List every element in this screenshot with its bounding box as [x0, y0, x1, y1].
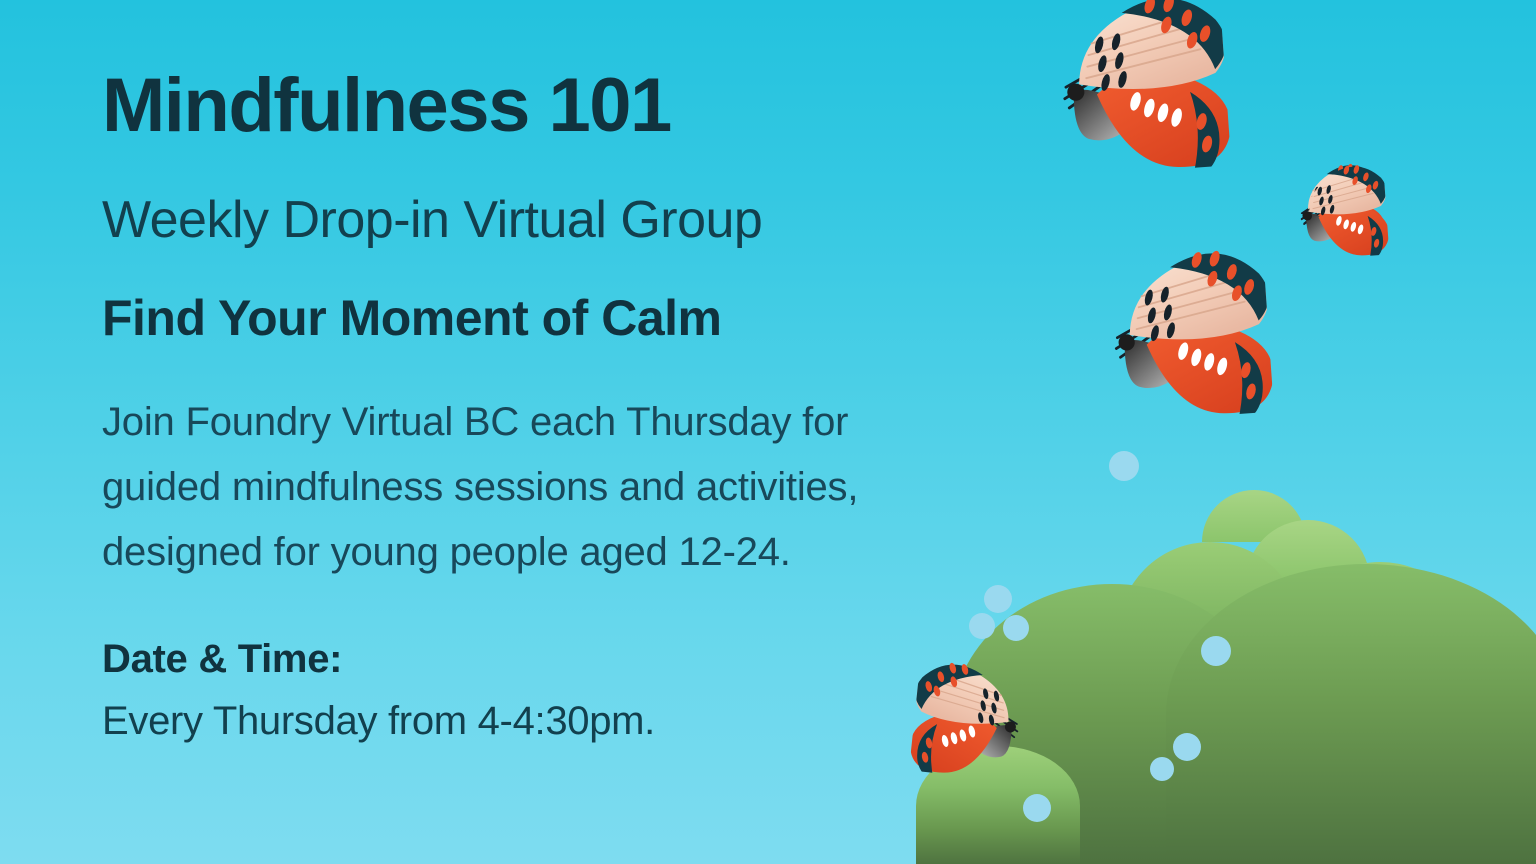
- butterfly-icon: [1082, 232, 1274, 424]
- foliage-dot: [1173, 733, 1201, 761]
- datetime-block: Date & Time: Every Thursday from 4-4:30p…: [102, 628, 1062, 752]
- page-title: Mindfulness 101: [102, 66, 1062, 146]
- description-line: guided mindfulness sessions and activiti…: [102, 455, 1062, 520]
- foliage-dot: [1150, 757, 1174, 781]
- poster-canvas: Mindfulness 101 Weekly Drop-in Virtual G…: [0, 0, 1536, 864]
- butterfly-lower-wing-tip: [1186, 90, 1222, 178]
- butterfly-lower-wing-dashes: [1127, 88, 1185, 132]
- poster-text-block: Mindfulness 101 Weekly Drop-in Virtual G…: [102, 66, 1062, 752]
- foliage-dome-upper-right: [1246, 520, 1370, 582]
- butterfly-body: [1073, 85, 1144, 142]
- butterfly-antennae: [1063, 63, 1113, 108]
- butterfly-head: [1067, 83, 1085, 101]
- datetime-value: Every Thursday from 4-4:30pm.: [102, 690, 1062, 752]
- foliage-dome-top: [1202, 490, 1306, 542]
- butterfly-wing-spots: [1092, 32, 1129, 93]
- butterfly-lower-tip-dashes: [1194, 111, 1215, 154]
- foliage-mass-right: [1166, 564, 1536, 864]
- butterfly-lower-wing: [1096, 65, 1232, 172]
- subtitle-program-type: Weekly Drop-in Virtual Group: [102, 192, 1062, 249]
- description-line: Join Foundry Virtual BC each Thursday fo…: [102, 390, 1062, 455]
- foliage-dome-center-right: [1286, 562, 1474, 656]
- foliage-skirt-bottom-left: [916, 746, 1080, 864]
- foliage-dot: [1023, 794, 1051, 822]
- description-line: designed for young people aged 12-24.: [102, 520, 1062, 585]
- foliage-dot: [1109, 451, 1139, 481]
- butterfly-upper-wing-tip: [1121, 0, 1228, 75]
- butterfly-icon: [1283, 155, 1390, 262]
- subtitle-tagline: Find Your Moment of Calm: [102, 291, 1062, 346]
- butterfly-wing-hatching: [1083, 17, 1202, 78]
- foliage-dome-far-right: [1434, 644, 1526, 690]
- foliage-dot: [1201, 636, 1231, 666]
- description-paragraph: Join Foundry Virtual BC each Thursday fo…: [102, 390, 1062, 584]
- datetime-label: Date & Time:: [102, 628, 1062, 690]
- butterfly-upper-wing: [1074, 0, 1228, 93]
- foliage-dome-center-left: [1118, 542, 1302, 634]
- butterfly-upper-tip-dashes: [1141, 0, 1213, 53]
